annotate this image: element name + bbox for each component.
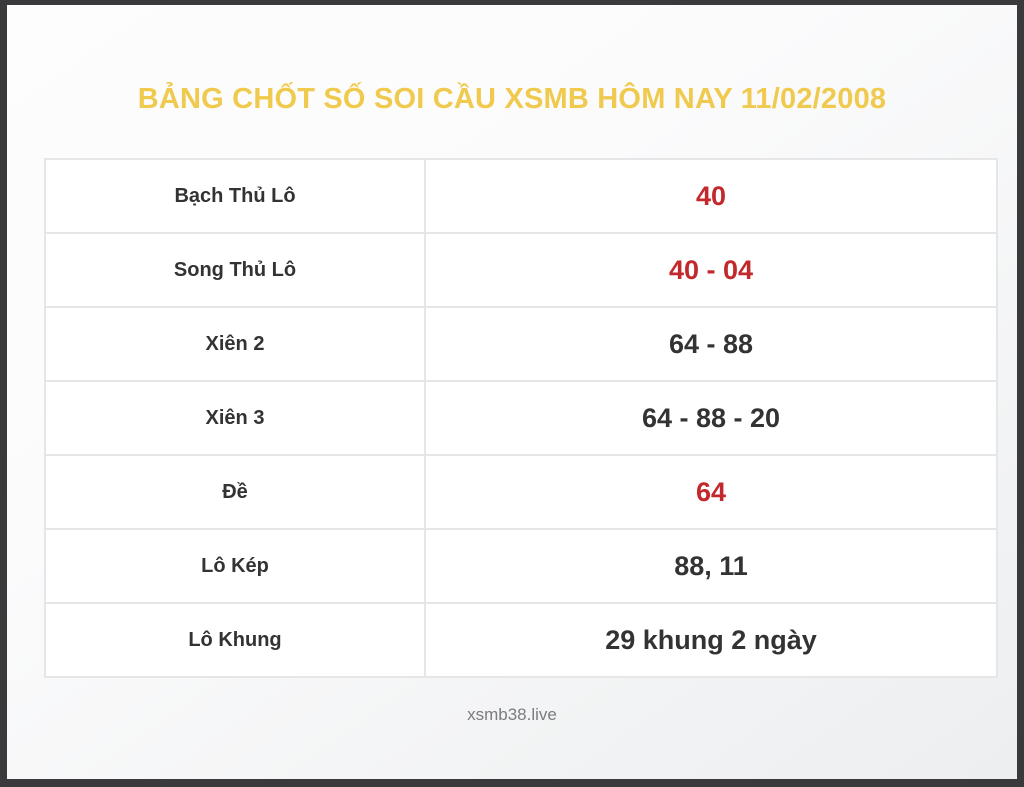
table-row: Bạch Thủ Lô40 xyxy=(45,159,997,233)
row-label: Song Thủ Lô xyxy=(45,233,425,307)
table-row: Song Thủ Lô40 - 04 xyxy=(45,233,997,307)
row-label: Bạch Thủ Lô xyxy=(45,159,425,233)
table-row: Lô Khung29 khung 2 ngày xyxy=(45,603,997,677)
screenshot-frame: BẢNG CHỐT SỐ SOI CẦU XSMB HÔM NAY 11/02/… xyxy=(0,0,1024,787)
row-label: Xiên 2 xyxy=(45,307,425,381)
row-value: 29 khung 2 ngày xyxy=(425,603,997,677)
row-label: Đề xyxy=(45,455,425,529)
row-value: 40 - 04 xyxy=(425,233,997,307)
row-value: 64 - 88 xyxy=(425,307,997,381)
row-value: 64 xyxy=(425,455,997,529)
row-value: 64 - 88 - 20 xyxy=(425,381,997,455)
row-value: 40 xyxy=(425,159,997,233)
table-row: Xiên 364 - 88 - 20 xyxy=(45,381,997,455)
prediction-table-body: Bạch Thủ Lô40Song Thủ Lô40 - 04Xiên 264 … xyxy=(45,159,997,677)
row-label: Lô Khung xyxy=(45,603,425,677)
table-row: Lô Kép88, 11 xyxy=(45,529,997,603)
prediction-card: BẢNG CHỐT SỐ SOI CẦU XSMB HÔM NAY 11/02/… xyxy=(7,5,1017,779)
table-row: Đề64 xyxy=(45,455,997,529)
row-value: 88, 11 xyxy=(425,529,997,603)
footer-site-name: xsmb38.live xyxy=(7,705,1017,725)
page-title: BẢNG CHỐT SỐ SOI CẦU XSMB HÔM NAY 11/02/… xyxy=(7,83,1017,116)
row-label: Lô Kép xyxy=(45,529,425,603)
table-row: Xiên 264 - 88 xyxy=(45,307,997,381)
prediction-table: Bạch Thủ Lô40Song Thủ Lô40 - 04Xiên 264 … xyxy=(44,158,998,678)
row-label: Xiên 3 xyxy=(45,381,425,455)
